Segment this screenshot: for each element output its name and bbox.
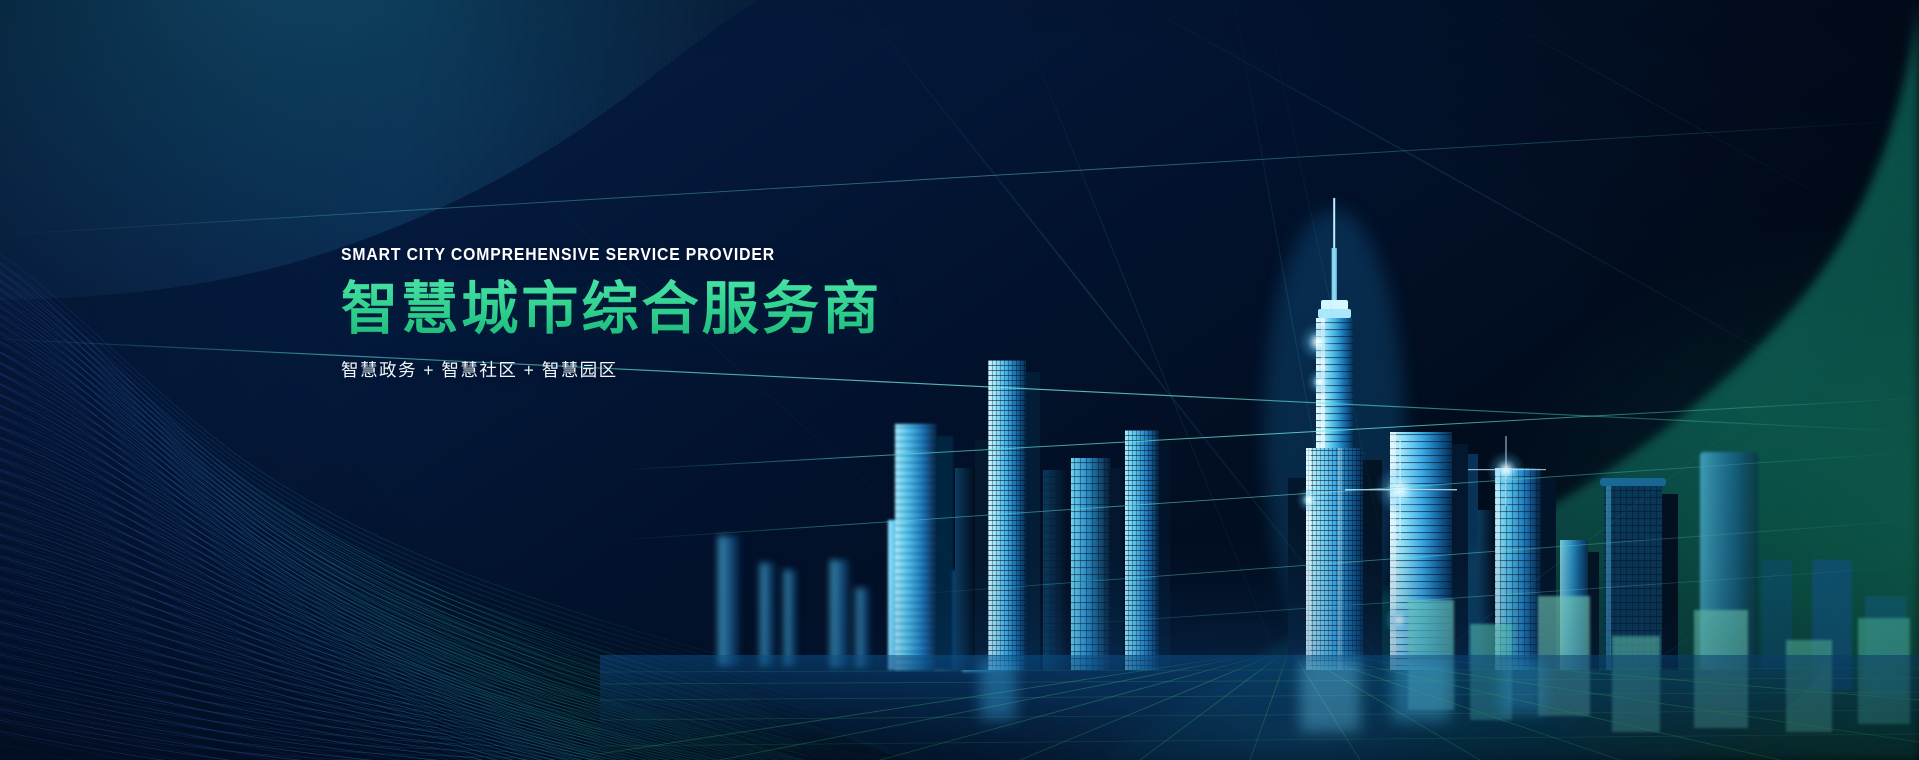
hero-eyebrow-english: SMART CITY COMPREHENSIVE SERVICE PROVIDE… — [341, 246, 989, 264]
right-mid-buildings — [1468, 436, 1599, 670]
far-left-slab-buildings — [718, 536, 870, 668]
left-slab-buildings — [888, 498, 1008, 672]
hero-banner: SMART CITY COMPREHENSIVE SERVICE PROVIDE… — [0, 0, 1919, 760]
hero-headline-chinese: 智慧城市综合服务商 — [341, 279, 1061, 339]
hero-copy-block: SMART CITY COMPREHENSIVE SERVICE PROVIDE… — [341, 246, 1061, 382]
glass-block-tower — [1345, 432, 1478, 670]
main-central-tower — [1264, 198, 1404, 670]
hero-subline-services: 智慧政务 + 智慧社区 + 智慧园区 — [341, 357, 1061, 382]
far-right-slabs — [1700, 452, 1907, 696]
foreground-green-lit-blocks — [1408, 596, 1910, 732]
mid-left-buildings — [895, 360, 1069, 670]
secondary-tower-left — [1071, 430, 1170, 670]
right-cylindrical-tower — [1600, 478, 1678, 670]
